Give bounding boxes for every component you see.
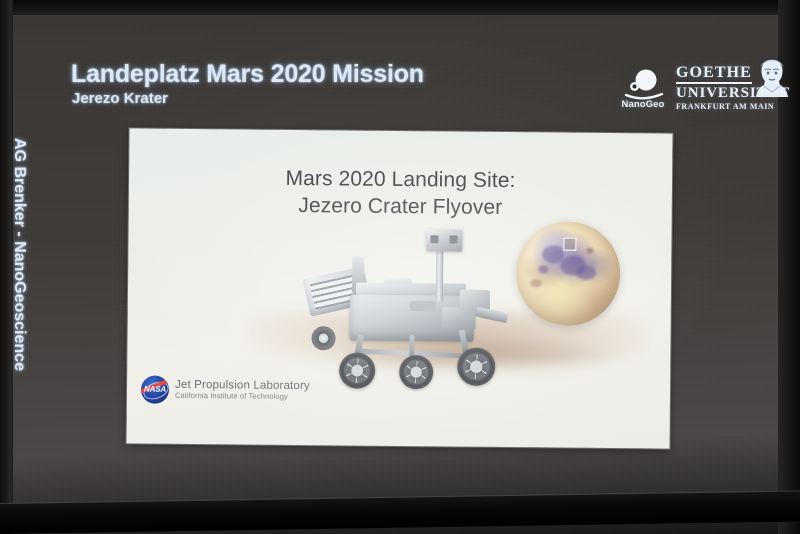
- mars-globe: [516, 221, 621, 326]
- perseverance-rover: [289, 222, 531, 404]
- jpl-text-block: Jet Propulsion Laboratory California Ins…: [175, 379, 310, 402]
- jpl-line-2: California Institute of Technology: [175, 392, 310, 402]
- embedded-image-panel: Mars 2020 Landing Site: Jezero Crater Fl…: [127, 128, 673, 448]
- goethe-portrait-icon: [755, 58, 789, 98]
- nasa-wordmark: NASA: [141, 385, 169, 394]
- page-subtitle: Jerezo Krater: [72, 90, 168, 107]
- nanogeo-droplet-icon: [612, 68, 674, 100]
- page-title: Landeplatz Mars 2020 Mission: [71, 60, 424, 89]
- nanogeo-label: NanoGeo: [612, 99, 674, 110]
- nasa-jpl-credit: NASA Jet Propulsion Laboratory Californi…: [141, 376, 310, 406]
- goethe-line-1: GOETHE: [676, 65, 752, 84]
- nasa-logo-icon: NASA: [141, 376, 169, 404]
- embedded-image-title: Mars 2020 Landing Site: Jezero Crater Fl…: [129, 164, 672, 223]
- goethe-line-3: FRANKFURT AM MAIN: [676, 103, 786, 112]
- embedded-title-line-1: Mars 2020 Landing Site:: [285, 167, 515, 192]
- screen-bezel-top: [0, 0, 800, 15]
- goethe-university-logo: GOETHE UNIVERSITÄT FRANKFURT AM MAIN: [676, 64, 786, 118]
- nanogeo-logo: NanoGeo: [612, 68, 674, 120]
- screenshot-root: Landeplatz Mars 2020 Mission Jerezo Krat…: [0, 0, 800, 534]
- embedded-title-line-2: Jezero Crater Flyover: [129, 191, 672, 223]
- side-caption: AG Brenker - NanoGeoscience: [10, 138, 28, 408]
- landing-site-marker: [563, 238, 576, 251]
